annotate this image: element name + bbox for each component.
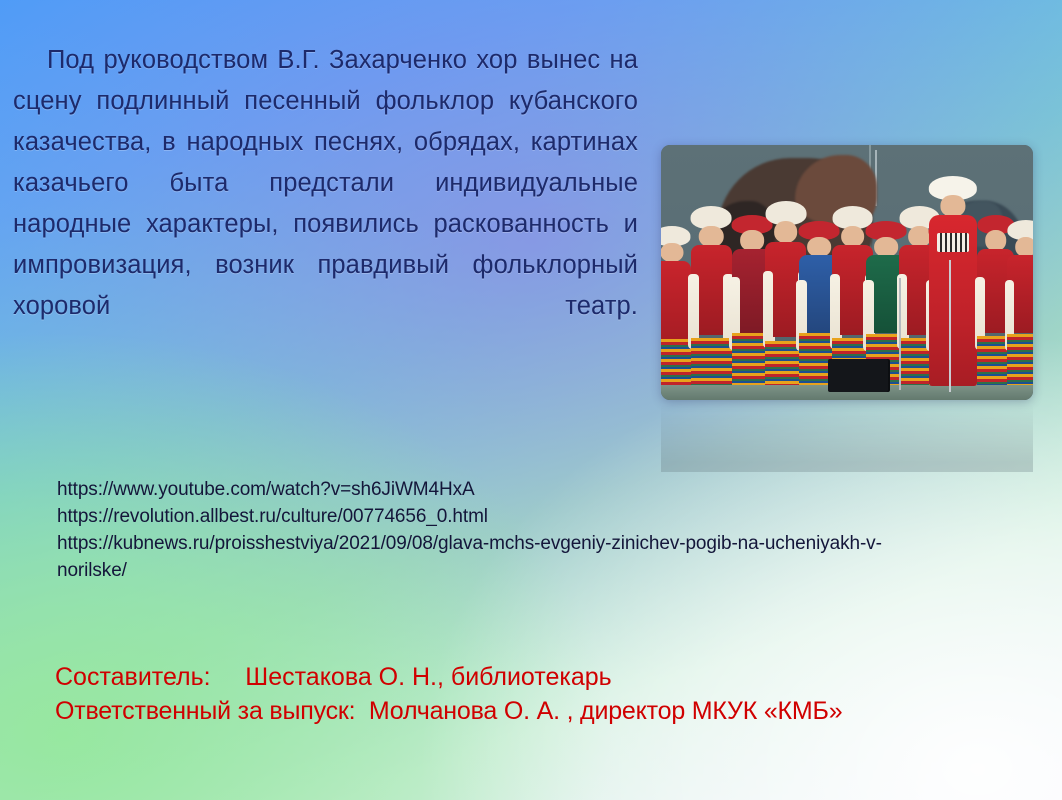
stage-scene <box>661 145 1033 400</box>
singer-head <box>985 230 1007 251</box>
soloist-head <box>940 195 965 217</box>
source-url[interactable]: https://kubnews.ru/proisshestviya/2021/0… <box>57 530 937 584</box>
embroidered-sleeve <box>763 271 774 348</box>
choir-singer <box>1007 216 1033 384</box>
presentation-slide: Под руководством В.Г. Захарченко хор вын… <box>0 0 1062 800</box>
source-url[interactable]: https://www.youtube.com/watch?v=sh6JiWM4… <box>57 476 937 503</box>
reflected-scene <box>661 400 1033 472</box>
singer-head <box>908 226 932 247</box>
choir-photo-container <box>661 145 1033 400</box>
singer-head <box>661 243 684 263</box>
microphone-stand <box>949 260 951 393</box>
costume-hem <box>691 338 732 384</box>
reflected-singer <box>691 400 732 411</box>
choir-singer <box>661 222 691 385</box>
singer-head <box>807 237 831 257</box>
choir-singer <box>691 206 732 385</box>
singer-head <box>774 221 798 243</box>
gazyri-cartridges <box>937 233 970 253</box>
stage-monitor-speaker <box>828 359 888 392</box>
choir-soloist <box>929 176 977 395</box>
photo-reflection <box>661 400 1033 472</box>
singer-head <box>699 226 724 247</box>
costume-hem <box>1007 334 1033 384</box>
microphone-stand <box>899 278 901 390</box>
responsible-line: Ответственный за выпуск: Молчанова О. А.… <box>55 694 1045 728</box>
reflected-singer <box>866 400 907 401</box>
singer-head <box>1015 237 1033 257</box>
reflected-backdrop <box>661 400 1033 472</box>
reflected-singer <box>799 400 840 401</box>
choir-photo <box>661 145 1033 400</box>
reflected-soloist <box>929 400 977 441</box>
singer-costume <box>661 261 691 339</box>
singer-head <box>874 237 898 257</box>
source-url[interactable]: https://revolution.allbest.ru/culture/00… <box>57 503 937 530</box>
singer-head <box>841 226 865 247</box>
compiler-line: Составитель: Шестакова О. Н., библиотека… <box>55 660 1045 694</box>
costume-hem <box>661 339 691 385</box>
reflected-singer <box>732 400 773 406</box>
singer-head <box>740 230 764 251</box>
body-paragraph: Под руководством В.Г. Захарченко хор вын… <box>13 40 638 368</box>
reflected-cherkeska <box>929 400 977 402</box>
source-url-list: https://www.youtube.com/watch?v=sh6JiWM4… <box>57 476 937 584</box>
credits-block: Составитель: Шестакова О. Н., библиотека… <box>55 660 1045 728</box>
